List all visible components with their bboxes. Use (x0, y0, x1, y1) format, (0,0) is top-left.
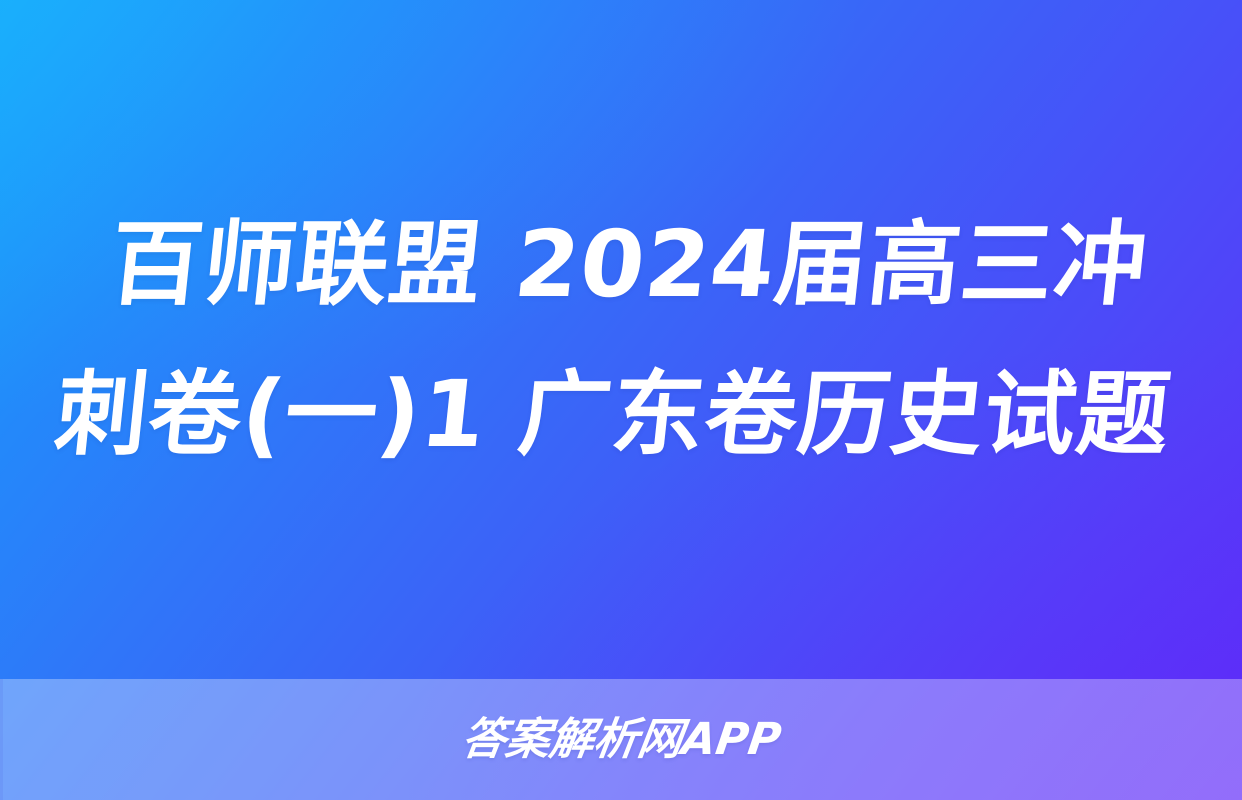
page-title: 百师联盟 2024届高三冲刺卷(一)1 广东卷历史试题 (46, 190, 1196, 490)
exam-paper-cover: 百师联盟 2024届高三冲刺卷(一)1 广东卷历史试题 答案解析网APP (0, 0, 1242, 800)
title-block: 百师联盟 2024届高三冲刺卷(一)1 广东卷历史试题 (0, 0, 1242, 679)
app-watermark-label: 答案解析网APP (459, 718, 784, 762)
watermark-band: 答案解析网APP (0, 679, 1242, 800)
